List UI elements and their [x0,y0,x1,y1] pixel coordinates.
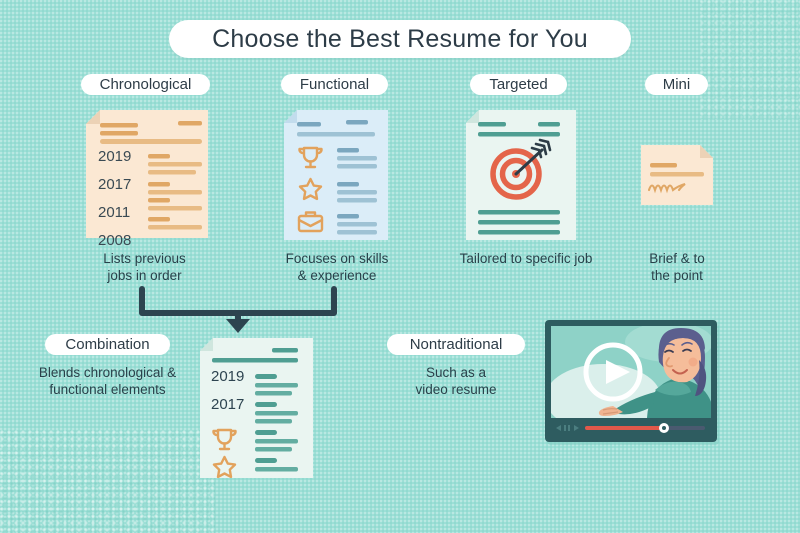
label-combination-text: Combination [65,336,149,353]
functional-paper-shape [284,110,388,240]
caption-combination: Blends chronological & functional elemen… [20,364,195,398]
label-mini: Mini [645,74,708,95]
video-controls[interactable] [551,420,711,435]
merge-arrow [118,283,378,335]
label-mini-text: Mini [663,76,691,93]
label-combination: Combination [45,334,170,355]
caption-nontraditional: Such as a video resume [386,364,526,398]
year-2017: 2017 [98,176,131,193]
texture-band-right [700,0,800,120]
year-2019: 2019 [211,368,244,385]
caption-mini: Brief & to the point [627,250,727,284]
page-title-text: Choose the Best Resume for You [212,25,588,54]
resume-card-combination[interactable]: 2019 2017 [200,338,313,478]
label-chronological: Chronological [81,74,210,95]
caption-chronological: Lists previous jobs in order [72,250,217,284]
label-functional: Functional [281,74,388,95]
video-resume-player[interactable] [545,320,717,442]
label-nontraditional-text: Nontraditional [410,336,503,353]
year-2019: 2019 [98,148,131,165]
page-title: Choose the Best Resume for You [169,20,631,58]
label-chronological-text: Chronological [100,76,192,93]
mini-paper-shape [641,145,713,205]
label-targeted: Targeted [470,74,567,95]
caption-functional: Focuses on skills & experience [262,250,412,284]
infographic-canvas: Choose the Best Resume for You Chronolog… [0,0,800,533]
resume-card-targeted[interactable] [466,110,576,240]
video-controls-shape [551,420,711,435]
label-targeted-text: Targeted [489,76,547,93]
resume-card-chronological[interactable]: 2019 2017 2011 2008 [86,110,208,238]
video-screen[interactable] [551,326,711,418]
year-2008: 2008 [98,232,131,249]
caption-targeted: Tailored to specific job [446,250,606,267]
label-functional-text: Functional [300,76,369,93]
merge-arrow-shape [118,283,378,335]
targeted-paper-shape [466,110,576,240]
year-2017: 2017 [211,396,244,413]
video-illustration [551,326,711,418]
year-2011: 2011 [98,204,130,221]
label-nontraditional: Nontraditional [387,334,525,355]
resume-card-functional[interactable] [284,110,388,240]
resume-card-mini[interactable] [641,145,713,205]
texture-band-left [0,430,215,533]
